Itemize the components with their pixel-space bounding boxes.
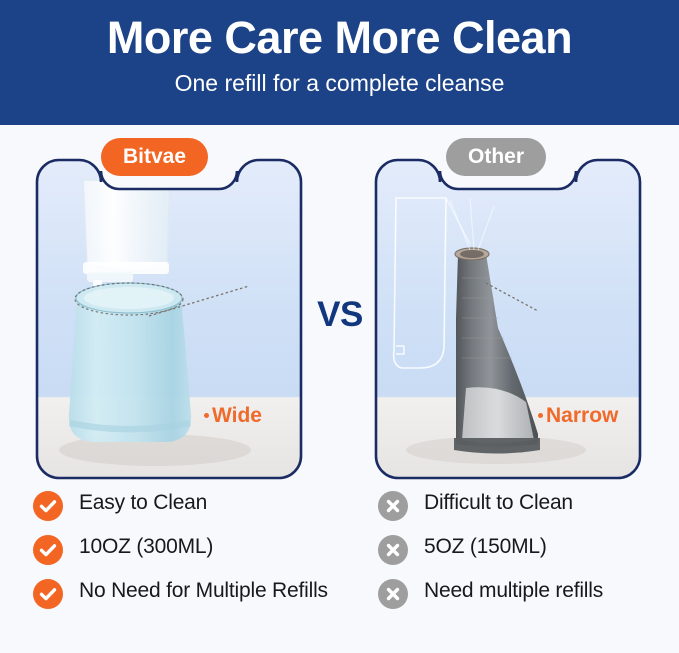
annotation-narrow-label: Narrow xyxy=(546,404,618,427)
list-item: 5OZ (150ML) xyxy=(378,534,678,565)
check-icon xyxy=(33,491,63,521)
annotation-dot-icon xyxy=(204,413,209,418)
badge-other: Other xyxy=(446,138,546,176)
header-banner: More Care More Clean One refill for a co… xyxy=(0,0,679,125)
list-item-label: 5OZ (150ML) xyxy=(424,534,547,561)
list-item-label: Need multiple refills xyxy=(424,578,603,605)
product-card-other xyxy=(374,158,642,480)
annotation-narrow: Narrow xyxy=(538,404,618,428)
annotation-wide: Wide xyxy=(204,404,262,428)
cross-icon xyxy=(378,579,408,609)
cross-icon xyxy=(378,535,408,565)
vs-label: VS xyxy=(305,295,375,335)
check-icon xyxy=(33,535,63,565)
badge-bitvae-label: Bitvae xyxy=(123,145,186,169)
product-card-bitvae xyxy=(35,158,303,480)
badge-other-label: Other xyxy=(468,145,524,169)
list-item: Difficult to Clean xyxy=(378,490,678,521)
feature-list-bitvae: Easy to Clean 10OZ (300ML) No Need for M… xyxy=(33,490,333,622)
badge-bitvae: Bitvae xyxy=(101,138,208,176)
list-item: Easy to Clean xyxy=(33,490,333,521)
page-subtitle: One refill for a complete cleanse xyxy=(175,70,505,97)
list-item: No Need for Multiple Refills xyxy=(33,578,333,609)
list-item: Need multiple refills xyxy=(378,578,678,609)
page-title: More Care More Clean xyxy=(107,14,572,63)
check-icon xyxy=(33,579,63,609)
cross-icon xyxy=(378,491,408,521)
list-item-label: Difficult to Clean xyxy=(424,490,573,517)
comparison-section: Bitvae xyxy=(0,125,679,653)
annotation-wide-label: Wide xyxy=(212,404,262,427)
list-item-label: Easy to Clean xyxy=(79,490,207,517)
list-item-label: 10OZ (300ML) xyxy=(79,534,213,561)
annotation-dot-icon xyxy=(538,413,543,418)
list-item: 10OZ (300ML) xyxy=(33,534,333,565)
feature-list-other: Difficult to Clean 5OZ (150ML) Need mult… xyxy=(378,490,678,622)
list-item-label: No Need for Multiple Refills xyxy=(79,578,328,605)
